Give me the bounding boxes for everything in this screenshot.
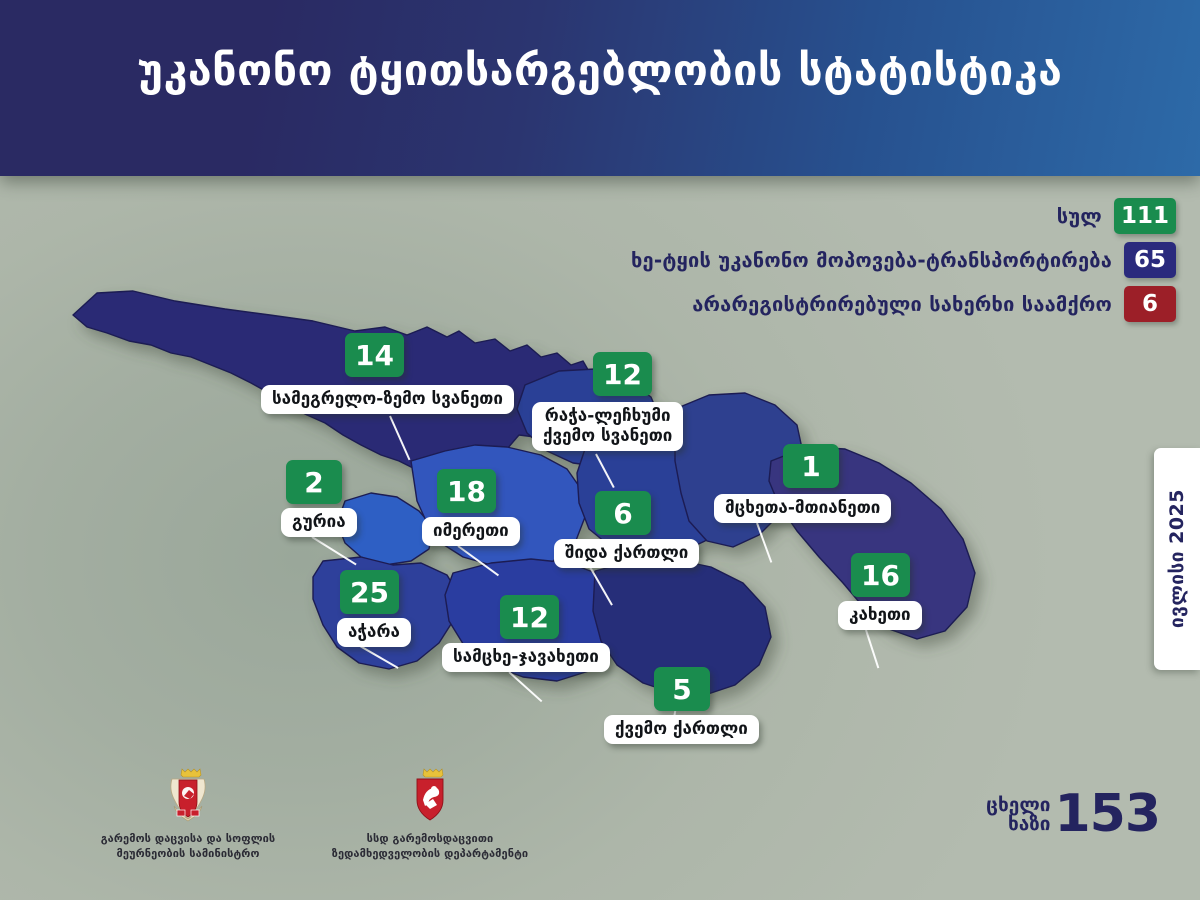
region-count-value: 14: [345, 333, 404, 377]
region-count-badge: 2: [286, 460, 342, 504]
map-svg: [55, 265, 1065, 785]
region-count-value: 18: [437, 469, 496, 513]
hotline-number: 153: [1054, 791, 1160, 838]
region-name-value: ქვემო ქართლი: [604, 715, 759, 744]
region-count-value: 25: [340, 570, 399, 614]
region-name-label: შიდა ქართლი: [554, 539, 699, 568]
region-count-badge: 12: [593, 352, 652, 396]
region-name-value: კახეთი: [838, 601, 922, 630]
legend-item-total: სულ 111: [1057, 198, 1176, 234]
region-name-value: სამცხე-ჯავახეთი: [442, 643, 610, 672]
infographic-poster: უკანონო ტყითსარგებლობის სტატისტიკა სულ 1…: [0, 0, 1200, 900]
date-label: ივლისი 2025: [1166, 489, 1188, 628]
region-count-value: 12: [593, 352, 652, 396]
legend-item-illegal-logging: ხე-ტყის უკანონო მოპოვება-ტრანსპორტირება …: [631, 242, 1176, 278]
georgia-region-map: [55, 265, 1065, 785]
legend-chip-illegal-logging: 65: [1124, 242, 1176, 278]
ministry-caption: გარემოს დაცვისა და სოფლის მეურნეობის სამ…: [88, 832, 288, 862]
department-caption: სსდ გარემოსდაცვითი ზედამხედველობის დეპარ…: [320, 832, 540, 862]
region-count-value: 16: [851, 553, 910, 597]
region-name-value: სამეგრელო-ზემო სვანეთი: [261, 385, 514, 414]
region-count-value: 1: [783, 444, 839, 488]
region-name-value: მცხეთა-მთიანეთი: [714, 494, 891, 523]
region-count-badge: 6: [595, 491, 651, 535]
region-name-label: გურია: [281, 508, 357, 537]
date-tab: ივლისი 2025: [1154, 448, 1200, 670]
department-coat-of-arms-icon: [408, 766, 452, 822]
hotline-label: ცხელი ხაზი: [986, 796, 1050, 833]
ministry-coat-of-arms-icon: [166, 766, 210, 822]
region-name-label: იმერეთი: [422, 517, 520, 546]
legend-label-illegal-logging: ხე-ტყის უკანონო მოპოვება-ტრანსპორტირება: [631, 248, 1112, 272]
region-name-label: აჭარა: [337, 618, 411, 647]
region-name-value: გურია: [281, 508, 357, 537]
region-name-label: მცხეთა-მთიანეთი: [714, 494, 891, 523]
region-name-value: შიდა ქართლი: [554, 539, 699, 568]
region-count-badge: 12: [500, 595, 559, 639]
legend: სულ 111 ხე-ტყის უკანონო მოპოვება-ტრანსპო…: [631, 198, 1176, 322]
header-band: უკანონო ტყითსარგებლობის სტატისტიკა: [0, 0, 1200, 176]
region-count-badge: 25: [340, 570, 399, 614]
region-name-label: ქვემო ქართლი: [604, 715, 759, 744]
region-name-value: იმერეთი: [422, 517, 520, 546]
region-name-value: რაჭა-ლეჩხუმი ქვემო სვანეთი: [532, 402, 683, 451]
page-title: უკანონო ტყითსარგებლობის სტატისტიკა: [0, 48, 1200, 95]
legend-item-unregistered-sawmill: არარეგისტრირებული სახერხი საამქრო 6: [692, 286, 1176, 322]
region-name-value: აჭარა: [337, 618, 411, 647]
department-logo-block: სსდ გარემოსდაცვითი ზედამხედველობის დეპარ…: [320, 766, 540, 862]
legend-label-total: სულ: [1057, 204, 1102, 228]
region-name-label: კახეთი: [838, 601, 922, 630]
region-count-badge: 5: [654, 667, 710, 711]
region-count-value: 5: [654, 667, 710, 711]
region-count-value: 2: [286, 460, 342, 504]
region-count-value: 12: [500, 595, 559, 639]
ministry-logo-block: გარემოს დაცვისა და სოფლის მეურნეობის სამ…: [88, 766, 288, 862]
region-count-badge: 16: [851, 553, 910, 597]
legend-chip-unregistered-sawmill: 6: [1124, 286, 1176, 322]
hotline-block: ცხელი ხაზი 153: [986, 791, 1160, 838]
region-name-label: სამცხე-ჯავახეთი: [442, 643, 610, 672]
region-count-value: 6: [595, 491, 651, 535]
legend-label-unregistered-sawmill: არარეგისტრირებული სახერხი საამქრო: [692, 292, 1112, 316]
region-count-badge: 1: [783, 444, 839, 488]
region-count-badge: 18: [437, 469, 496, 513]
legend-chip-total: 111: [1114, 198, 1176, 234]
region-name-label: რაჭა-ლეჩხუმი ქვემო სვანეთი: [532, 402, 683, 451]
region-count-badge: 14: [345, 333, 404, 377]
region-name-label: სამეგრელო-ზემო სვანეთი: [261, 385, 514, 414]
